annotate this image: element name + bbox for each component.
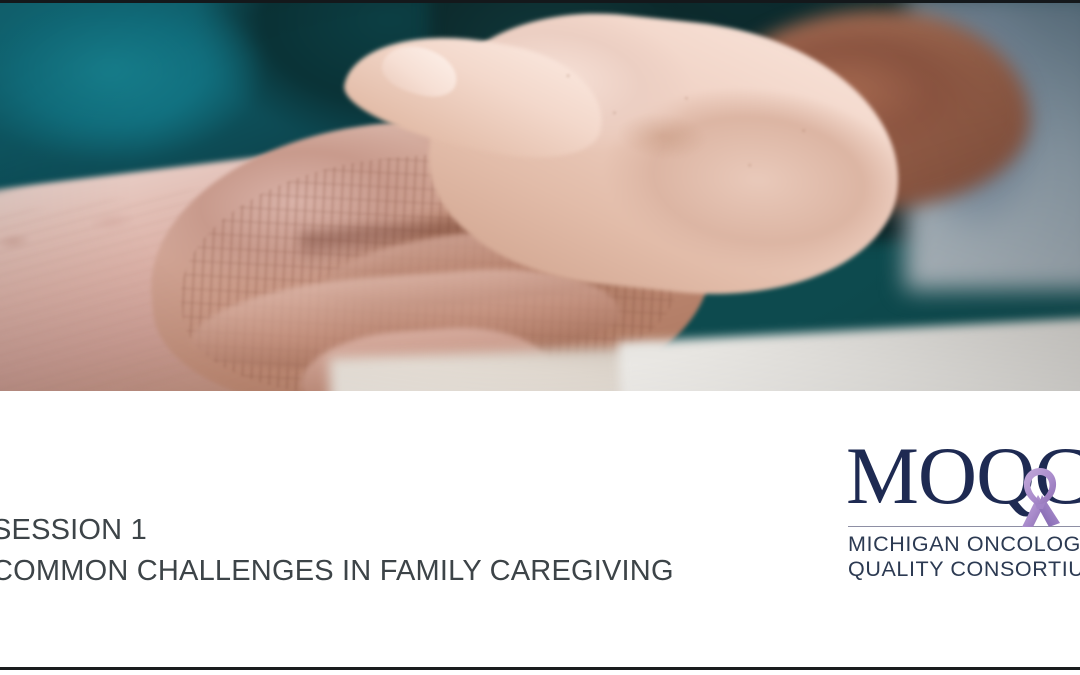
hero-photo	[0, 0, 1080, 391]
photo-vignette	[0, 0, 1080, 391]
logo-subtitle-line-1: MICHIGAN ONCOLOGY	[848, 532, 1080, 557]
session-topic: COMMON CHALLENGES IN FAMILY CAREGIVING	[0, 551, 822, 592]
awareness-ribbon-icon	[1014, 465, 1066, 529]
title-slide: SESSION 1 COMMON CHALLENGES IN FAMILY CA…	[0, 0, 1080, 675]
moqc-logo-subtitle: MICHIGAN ONCOLOGY QUALITY CONSORTIUM	[848, 532, 1080, 582]
slide-bottom-border	[0, 667, 1080, 670]
slide-title-block: SESSION 1 COMMON CHALLENGES IN FAMILY CA…	[0, 510, 822, 592]
slide-top-border	[0, 0, 1080, 3]
moqc-logo: MOQC	[846, 447, 1080, 583]
logo-subtitle-line-2: QUALITY CONSORTIUM	[848, 557, 1080, 582]
moqc-wordmark: MOQC	[846, 447, 1080, 521]
session-label: SESSION 1	[0, 510, 822, 551]
